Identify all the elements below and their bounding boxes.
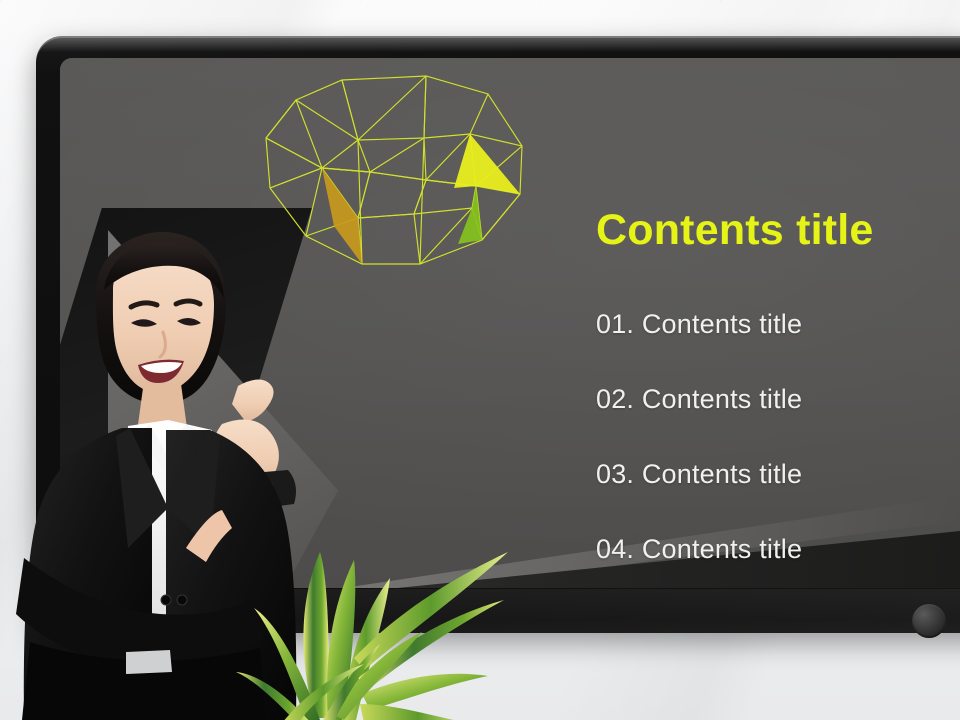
- list-item[interactable]: 01. Contents title: [596, 309, 960, 340]
- bezel-highlight: [36, 36, 960, 52]
- power-button-icon[interactable]: [912, 604, 946, 638]
- list-item[interactable]: 03. Contents title: [596, 459, 960, 490]
- slide-title: Contents title: [596, 208, 960, 253]
- slide-canvas: Contents title 01. Contents title 02. Co…: [0, 0, 960, 720]
- sleeve-button: [177, 595, 187, 605]
- sleeve-button: [161, 595, 171, 605]
- houseplant: [236, 508, 566, 720]
- list-item[interactable]: 04. Contents title: [596, 534, 960, 565]
- content-text-block: Contents title 01. Contents title 02. Co…: [596, 208, 960, 565]
- facet-green: [458, 186, 482, 244]
- shirt-hem: [126, 650, 172, 674]
- pointing-finger: [232, 379, 274, 422]
- contents-list: 01. Contents title 02. Contents title 03…: [596, 309, 960, 565]
- plant-leaves: [236, 552, 508, 720]
- list-item[interactable]: 02. Contents title: [596, 384, 960, 415]
